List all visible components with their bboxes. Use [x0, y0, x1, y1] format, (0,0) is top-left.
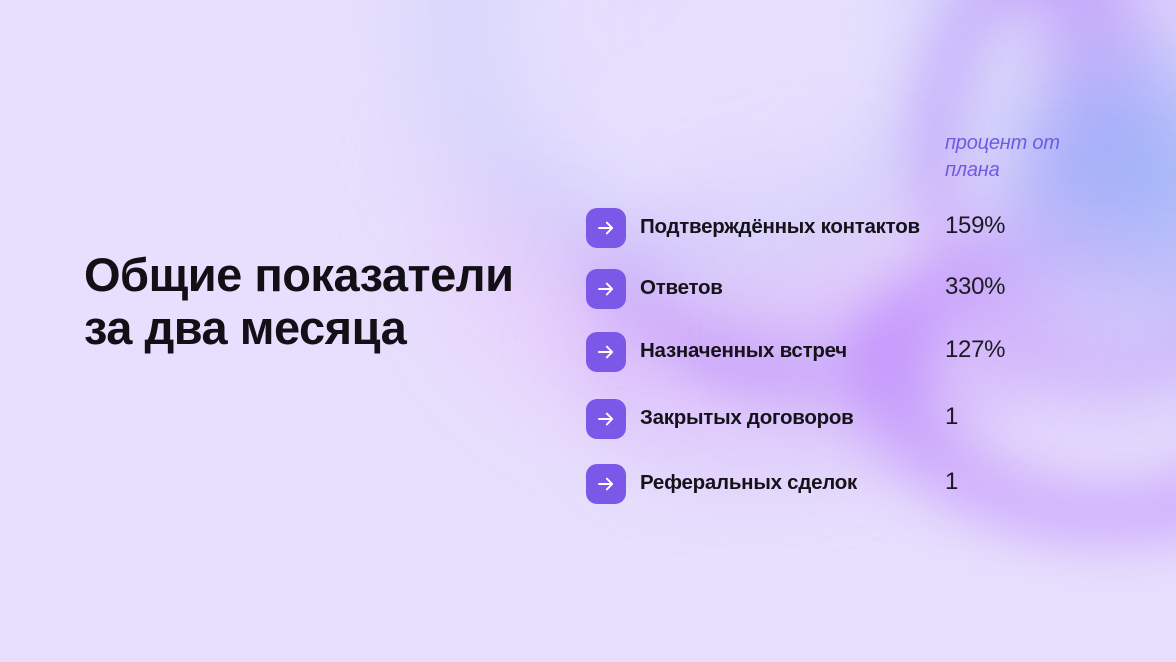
metric-value: 330% [945, 269, 1095, 300]
metric-row: Закрытых договоров 1 [586, 399, 1106, 439]
arrow-right-icon[interactable] [586, 332, 626, 372]
metric-label: Реферальных сделок [640, 464, 940, 495]
arrow-right-icon[interactable] [586, 399, 626, 439]
metrics-column-header: процент от плана [945, 130, 1115, 184]
arrow-right-icon[interactable] [586, 464, 626, 504]
metric-row: Назначенных встреч 127% [586, 332, 1106, 372]
metric-value: 127% [945, 332, 1095, 363]
slide-canvas: Общие показатели за два месяца процент о… [0, 0, 1176, 662]
metric-label: Подтверждённых контактов [640, 208, 940, 239]
arrow-right-icon[interactable] [586, 269, 626, 309]
metric-label: Ответов [640, 269, 940, 300]
metric-label: Назначенных встреч [640, 332, 940, 363]
metric-value: 159% [945, 208, 1095, 239]
metric-row: Реферальных сделок 1 [586, 464, 1106, 504]
metric-row: Ответов 330% [586, 269, 1106, 309]
metric-label: Закрытых договоров [640, 399, 940, 430]
metric-value: 1 [945, 464, 1095, 495]
metric-row: Подтверждённых контактов 159% [586, 208, 1106, 248]
arrow-right-icon[interactable] [586, 208, 626, 248]
metric-value: 1 [945, 399, 1095, 430]
slide-content: Общие показатели за два месяца процент о… [0, 0, 1176, 662]
page-title: Общие показатели за два месяца [84, 249, 514, 354]
